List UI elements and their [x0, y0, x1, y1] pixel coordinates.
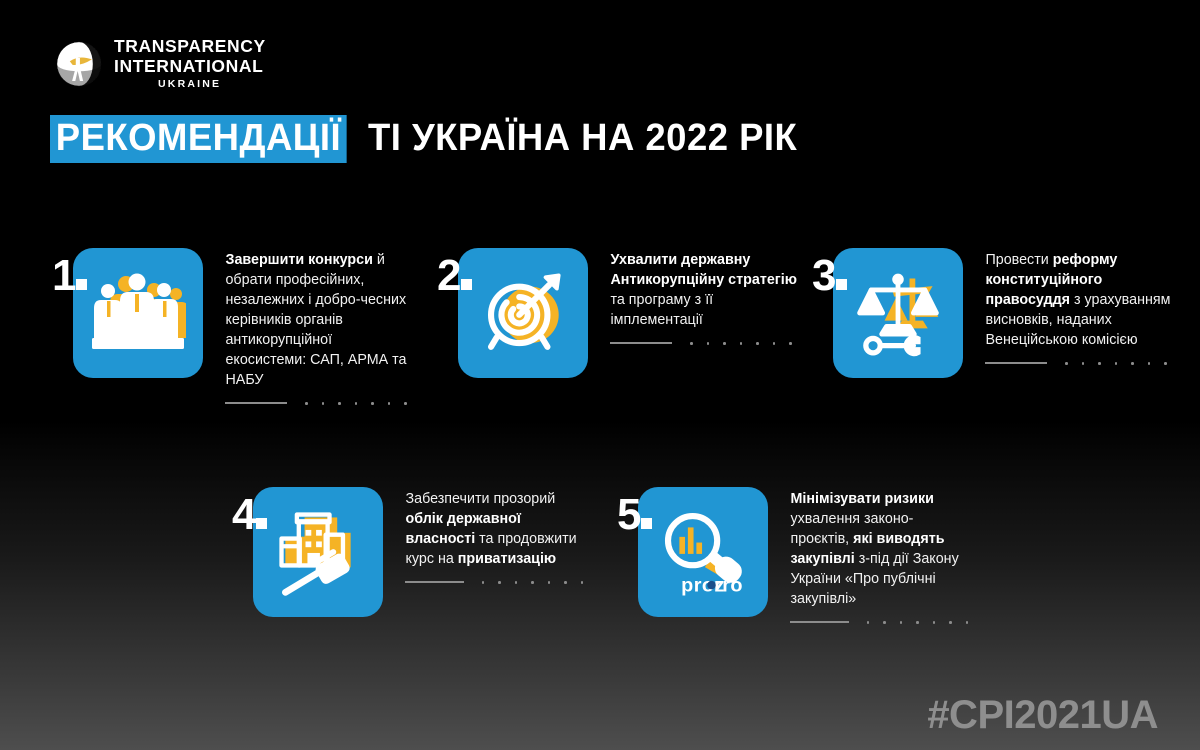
number-dot: [836, 279, 847, 290]
card-divider-4: [405, 581, 583, 584]
logo-text-international: INTERNATIONAL: [114, 58, 266, 76]
divider-dash: [985, 362, 1047, 364]
prozorro-wordmark-post: rro: [715, 575, 744, 597]
recommendation-text-5: Мінімізувати ризики ухвалення законо-про…: [790, 487, 968, 624]
card-number-2: 2: [437, 254, 472, 298]
prozorro-magnifier-icon: proz rro: [651, 504, 755, 600]
card-divider-1: [225, 402, 413, 405]
divider-dash: [610, 342, 672, 344]
card-number-5: 5: [617, 493, 652, 537]
divider-dash: [225, 402, 287, 404]
divider-dots: [305, 402, 407, 405]
recommendation-card-3[interactable]: 3: [812, 248, 1173, 378]
recommendation-card-5[interactable]: 5 proz: [617, 487, 968, 624]
recommendation-card-1[interactable]: 1: [52, 248, 413, 405]
recommendation-text-3: Провести реформу конституційного правосу…: [985, 248, 1173, 365]
recommendation-icon-tile-5: proz rro: [638, 487, 768, 617]
number-dot: [76, 279, 87, 290]
infographic-canvas: TRANSPARENCY INTERNATIONAL UKRAINE РЕКОМ…: [0, 0, 1200, 750]
card-number-1: 1: [52, 254, 87, 298]
logo-text-ukraine: UKRAINE: [158, 79, 266, 90]
divider-dots: [867, 621, 969, 624]
logo-text-transparency: TRANSPARENCY: [114, 38, 266, 56]
recommendation-text-1: Завершити конкурси й обрати професійних,…: [225, 248, 413, 405]
divider-dots: [482, 581, 584, 584]
number-dot: [256, 518, 267, 529]
recommendation-icon-tile-2: [458, 248, 588, 378]
target-arrow-icon: [476, 266, 570, 360]
recommendation-body-5: Мінімізувати ризики ухвалення законо-про…: [790, 489, 968, 609]
buildings-gavel-icon: [270, 504, 366, 600]
recommendation-text-4: Забезпечити прозорий облік державної вла…: [405, 487, 583, 584]
card-divider-5: [790, 621, 968, 624]
number-dot: [461, 279, 472, 290]
campaign-hashtag: #CPI2021UA: [927, 693, 1158, 738]
recommendation-body-4: Забезпечити прозорий облік державної вла…: [405, 489, 583, 569]
title-remainder: ТІ УКРАЇНА НА 2022 РІК: [368, 119, 797, 157]
recommendation-card-4[interactable]: 4: [232, 487, 583, 617]
recommendation-body-1: Завершити конкурси й обрати професійних,…: [225, 250, 413, 390]
officials-group-icon: [90, 268, 186, 358]
recommendation-text-2: Ухвалити державну Антикорупційну стратег…: [610, 248, 798, 345]
divider-dash: [405, 581, 464, 583]
number-dot: [641, 518, 652, 529]
ti-globe-figure-icon: [56, 41, 102, 87]
recommendation-body-2: Ухвалити державну Антикорупційну стратег…: [610, 250, 798, 330]
prozorro-dot: [708, 581, 717, 590]
justice-scales-wrench-icon: [850, 265, 946, 361]
card-divider-2: [610, 342, 798, 345]
recommendation-card-2[interactable]: 2 Ухвалити державну Антик: [437, 248, 798, 378]
recommendation-icon-tile-3: [833, 248, 963, 378]
transparency-international-logo: TRANSPARENCY INTERNATIONAL UKRAINE: [56, 38, 266, 90]
divider-dots: [1065, 362, 1167, 365]
card-number-3: 3: [812, 254, 847, 298]
card-divider-3: [985, 362, 1173, 365]
recommendation-icon-tile-1: [73, 248, 203, 378]
divider-dots: [690, 342, 792, 345]
title-highlight-word: РЕКОМЕНДАЦІЇ: [50, 115, 347, 163]
recommendation-body-3: Провести реформу конституційного правосу…: [985, 250, 1173, 350]
divider-dash: [790, 621, 849, 623]
page-title: РЕКОМЕНДАЦІЇ ТІ УКРАЇНА НА 2022 РІК: [50, 115, 815, 163]
recommendation-icon-tile-4: [253, 487, 383, 617]
card-number-4: 4: [232, 493, 267, 537]
